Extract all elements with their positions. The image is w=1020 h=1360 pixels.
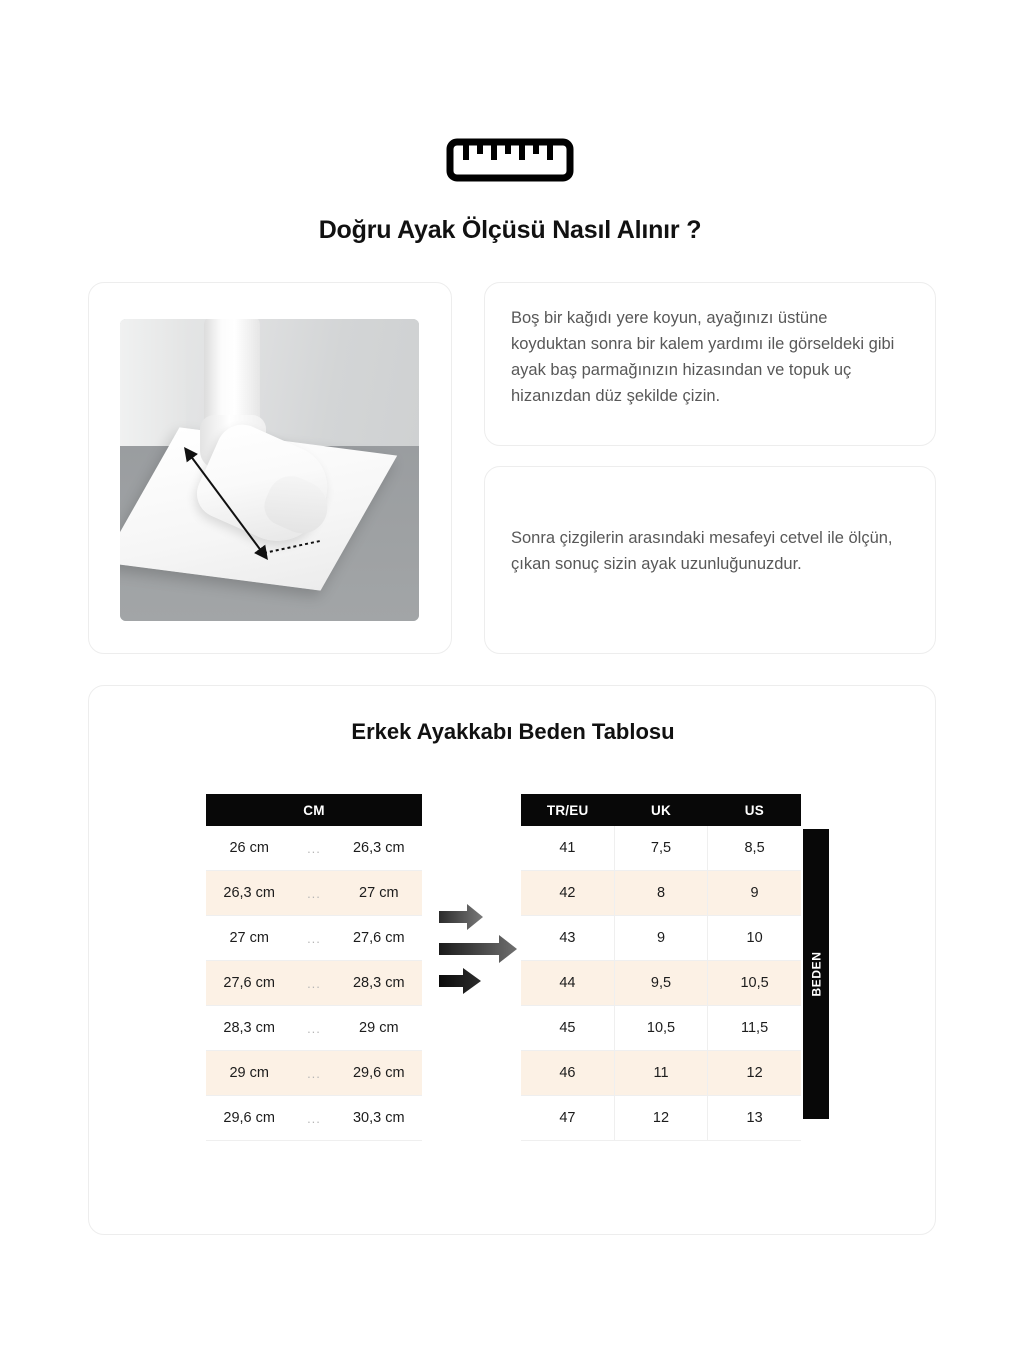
ruler-icon-container <box>0 138 1020 182</box>
cm-to: 27,6 cm <box>336 916 422 961</box>
size-tr-eu: 46 <box>521 1051 614 1096</box>
table-row: 26,3 cm ... 27 cm <box>206 871 422 916</box>
ruler-icon <box>446 138 574 182</box>
size-tr-eu: 41 <box>521 826 614 871</box>
arrows-right-icon <box>437 901 521 997</box>
cm-from: 27,6 cm <box>206 961 292 1006</box>
table-row: 43 9 10 <box>521 916 801 961</box>
size-us: 11,5 <box>708 1006 801 1051</box>
cm-sep: ... <box>292 916 335 961</box>
size-uk: 9 <box>614 916 707 961</box>
beden-side-label-text: BEDEN <box>809 951 823 996</box>
size-table-card: Erkek Ayakkabı Beden Tablosu CM 26 cm ..… <box>88 685 936 1235</box>
cm-from: 26,3 cm <box>206 871 292 916</box>
cm-sep: ... <box>292 1006 335 1051</box>
cm-sep: ... <box>292 826 335 871</box>
cm-to: 28,3 cm <box>336 961 422 1006</box>
size-uk: 7,5 <box>614 826 707 871</box>
cm-sep: ... <box>292 1051 335 1096</box>
size-conversion-table: TR/EU UK US 41 7,5 8,5 42 8 9 43 9 10 <box>521 794 801 1141</box>
size-uk: 12 <box>614 1096 707 1141</box>
size-tr-eu: 47 <box>521 1096 614 1141</box>
table-row: 46 11 12 <box>521 1051 801 1096</box>
size-us: 12 <box>708 1051 801 1096</box>
size-table-title: Erkek Ayakkabı Beden Tablosu <box>89 719 937 745</box>
table-row: 47 12 13 <box>521 1096 801 1141</box>
foot-measurement-photo <box>120 319 419 621</box>
size-us: 8,5 <box>708 826 801 871</box>
cm-table-header-row: CM <box>206 794 422 826</box>
size-table-head: TR/EU UK US <box>521 794 801 826</box>
table-row: 27,6 cm ... 28,3 cm <box>206 961 422 1006</box>
size-table-header-row: TR/EU UK US <box>521 794 801 826</box>
size-table-body: 41 7,5 8,5 42 8 9 43 9 10 44 9,5 10,5 45 <box>521 826 801 1141</box>
cm-to: 27 cm <box>336 871 422 916</box>
beden-side-label: BEDEN <box>803 829 829 1119</box>
size-uk: 8 <box>614 871 707 916</box>
instruction-text-1: Boş bir kağıdı yere koyun, ayağınızı üst… <box>511 305 905 409</box>
cm-to: 26,3 cm <box>336 826 422 871</box>
table-row: 45 10,5 11,5 <box>521 1006 801 1051</box>
cm-to: 29 cm <box>336 1006 422 1051</box>
size-tr-eu: 43 <box>521 916 614 961</box>
cm-from: 29,6 cm <box>206 1096 292 1141</box>
table-row: 26 cm ... 26,3 cm <box>206 826 422 871</box>
foot-photo-card <box>88 282 452 654</box>
instruction-card-1: Boş bir kağıdı yere koyun, ayağınızı üst… <box>484 282 936 446</box>
size-us: 13 <box>708 1096 801 1141</box>
size-uk: 11 <box>614 1051 707 1096</box>
cm-from: 26 cm <box>206 826 292 871</box>
table-row: 27 cm ... 27,6 cm <box>206 916 422 961</box>
size-tr-eu: 42 <box>521 871 614 916</box>
size-tr-eu: 44 <box>521 961 614 1006</box>
cm-table-header-cell: CM <box>206 794 422 826</box>
size-us: 10 <box>708 916 801 961</box>
size-header-tr-eu: TR/EU <box>521 794 614 826</box>
size-us: 10,5 <box>708 961 801 1006</box>
page-title: Doğru Ayak Ölçüsü Nasıl Alınır ? <box>0 216 1020 245</box>
table-row: 42 8 9 <box>521 871 801 916</box>
instruction-text-2: Sonra çizgilerin arasındaki mesafeyi cet… <box>511 525 905 577</box>
table-row: 28,3 cm ... 29 cm <box>206 1006 422 1051</box>
table-row: 29 cm ... 29,6 cm <box>206 1051 422 1096</box>
cm-table: CM 26 cm ... 26,3 cm 26,3 cm ... 27 cm 2… <box>206 794 422 1141</box>
cm-from: 28,3 cm <box>206 1006 292 1051</box>
cm-to: 29,6 cm <box>336 1051 422 1096</box>
table-row: 29,6 cm ... 30,3 cm <box>206 1096 422 1141</box>
size-us: 9 <box>708 871 801 916</box>
cm-sep: ... <box>292 961 335 1006</box>
size-header-uk: UK <box>614 794 707 826</box>
size-uk: 9,5 <box>614 961 707 1006</box>
cm-sep: ... <box>292 871 335 916</box>
instruction-card-2: Sonra çizgilerin arasındaki mesafeyi cet… <box>484 466 936 654</box>
table-row: 41 7,5 8,5 <box>521 826 801 871</box>
size-tr-eu: 45 <box>521 1006 614 1051</box>
table-row: 44 9,5 10,5 <box>521 961 801 1006</box>
size-header-us: US <box>708 794 801 826</box>
cm-table-head: CM <box>206 794 422 826</box>
cm-sep: ... <box>292 1096 335 1141</box>
cm-to: 30,3 cm <box>336 1096 422 1141</box>
cm-table-body: 26 cm ... 26,3 cm 26,3 cm ... 27 cm 27 c… <box>206 826 422 1141</box>
cm-from: 27 cm <box>206 916 292 961</box>
photo-measurement-arrow <box>120 319 419 621</box>
size-uk: 10,5 <box>614 1006 707 1051</box>
cm-from: 29 cm <box>206 1051 292 1096</box>
